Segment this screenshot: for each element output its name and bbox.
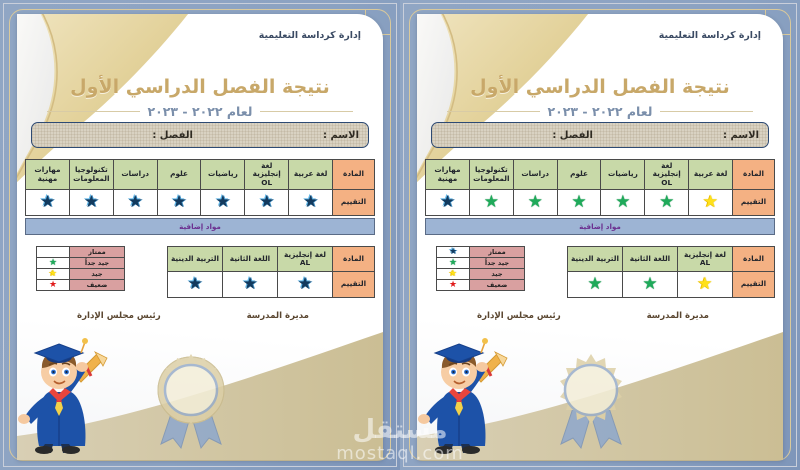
student-identity-box[interactable]: الاسم : الفصل : (31, 122, 369, 148)
rating-legend-table: ممتاز ★ جيد جداً ★ جيد ★ ضعيف ★ (436, 246, 525, 291)
rating-cell[interactable]: ★ (201, 190, 245, 216)
legend-label: ممتاز (470, 247, 525, 258)
rating-cell[interactable]: ★ (278, 272, 333, 298)
legend-star-icon: ★ (449, 259, 457, 268)
row-header-subject: المادة (733, 160, 775, 190)
graduate-boy-illustration (417, 336, 511, 454)
legend-star-cell: ★ (37, 258, 70, 269)
legend-label: جيد جداً (470, 258, 525, 269)
table-row-subjects: المادة لغة إنجليزية AL اللغة الثانية الت… (168, 247, 375, 272)
rating-cell[interactable]: ★ (69, 190, 113, 216)
certificate-paper: إدارة كرداسة التعليمية نتيجة الفصل الدرا… (17, 14, 383, 460)
row-header-subject: المادة (333, 160, 375, 190)
rating-star-icon: ★ (40, 194, 55, 211)
rating-star-icon: ★ (615, 194, 630, 211)
rating-cell[interactable]: ★ (223, 272, 278, 298)
table-row-ratings: التقييم ★ ★ ★ (568, 272, 775, 298)
extra-subjects-banner: مواد إضافية (425, 218, 775, 235)
subject-cell: دراسات (513, 160, 557, 190)
subject-cell: لغة عربية (689, 160, 733, 190)
student-class-label: الفصل : (152, 130, 193, 141)
row-header-rating: التقييم (733, 272, 775, 298)
table-row-subjects: المادة لغة إنجليزية AL اللغة الثانية الت… (568, 247, 775, 272)
legend-row: ممتاز ★ (437, 247, 525, 258)
extra-grades-section: المادة لغة إنجليزية AL اللغة الثانية الت… (567, 246, 775, 298)
student-name-label: الاسم : (323, 130, 359, 141)
extra-subjects-banner: مواد إضافية (25, 218, 375, 235)
subject-cell: اللغة الثانية (623, 247, 678, 272)
subject-cell: رياضيات (601, 160, 645, 190)
legend-row: جيد ★ (437, 269, 525, 280)
result-card-right: إدارة كرداسة التعليمية نتيجة الفصل الدرا… (400, 0, 800, 470)
rating-star-icon: ★ (587, 276, 602, 293)
subject-cell: لغة إنجليزية OL (645, 160, 689, 190)
legend-star-icon: ★ (49, 259, 57, 268)
rating-cell[interactable]: ★ (157, 190, 201, 216)
academic-year-row: لعام ٢٠٢٢ - ٢٠٢٣ (47, 104, 353, 119)
result-card-left: إدارة كرداسة التعليمية نتيجة الفصل الدرا… (0, 0, 400, 470)
legend-row: ضعيف ★ (437, 280, 525, 291)
legend-star-cell: ★ (437, 280, 470, 291)
rating-star-icon: ★ (659, 194, 674, 211)
rating-star-icon: ★ (528, 194, 543, 211)
main-grades-section: المادة لغة عربية لغة إنجليزية OL رياضيات… (425, 159, 775, 235)
row-header-rating: التقييم (333, 272, 375, 298)
subject-cell: تكنولوجيا المعلومات (469, 160, 513, 190)
rating-star-icon: ★ (303, 194, 318, 211)
certificate-paper: إدارة كرداسة التعليمية نتيجة الفصل الدرا… (417, 14, 783, 460)
row-header-subject: المادة (333, 247, 375, 272)
main-grades-table: المادة لغة عربية لغة إنجليزية OL رياضيات… (425, 159, 775, 216)
legend-star-icon: ★ (449, 281, 457, 290)
rating-cell[interactable]: ★ (289, 190, 333, 216)
subject-cell: لغة عربية (289, 160, 333, 190)
academic-year-row: لعام ٢٠٢٢ - ٢٠٢٣ (447, 104, 753, 119)
rating-star-icon: ★ (242, 276, 257, 293)
row-header-subject: المادة (733, 247, 775, 272)
rating-cell[interactable]: ★ (557, 190, 601, 216)
rating-cell[interactable]: ★ (426, 190, 470, 216)
rating-cell[interactable]: ★ (689, 190, 733, 216)
legend-star-cell: ★ (37, 269, 70, 280)
rating-legend-table: ممتاز ★ جيد جداً ★ جيد ★ ضعيف ★ (36, 246, 125, 291)
subject-cell: اللغة الثانية (223, 247, 278, 272)
subject-cell: التربية الدينية (568, 247, 623, 272)
subject-cell: مهارات مهنية (26, 160, 70, 190)
table-row-subjects: المادة لغة عربية لغة إنجليزية OL رياضيات… (426, 160, 775, 190)
education-administration-label: إدارة كرداسة التعليمية (259, 30, 361, 41)
main-grades-table: المادة لغة عربية لغة إنجليزية OL رياضيات… (25, 159, 375, 216)
rating-cell[interactable]: ★ (469, 190, 513, 216)
legend-star-cell: ★ (437, 247, 470, 258)
row-header-rating: التقييم (733, 190, 775, 216)
rating-cell[interactable]: ★ (645, 190, 689, 216)
year-rule-right (660, 111, 753, 112)
signature-headmistress: مديرة المدرسة (247, 311, 309, 321)
subject-cell: علوم (557, 160, 601, 190)
rating-cell[interactable]: ★ (245, 190, 289, 216)
rating-cell[interactable]: ★ (168, 272, 223, 298)
rating-star-icon: ★ (84, 194, 99, 211)
signature-headmistress: مديرة المدرسة (647, 311, 709, 321)
table-row-subjects: المادة لغة عربية لغة إنجليزية OL رياضيات… (26, 160, 375, 190)
academic-year-label: لعام ٢٠٢٢ - ٢٠٢٣ (148, 104, 253, 119)
education-administration-label: إدارة كرداسة التعليمية (659, 30, 761, 41)
subject-cell: رياضيات (201, 160, 245, 190)
legend-label: جيد جداً (70, 258, 125, 269)
extra-grades-table: المادة لغة إنجليزية AL اللغة الثانية الت… (567, 246, 775, 298)
legend-star-icon: ★ (449, 248, 457, 257)
rosette-award-illustration (147, 352, 235, 452)
rating-star-icon: ★ (215, 194, 230, 211)
subject-cell: لغة إنجليزية OL (245, 160, 289, 190)
legend-label: ضعيف (470, 280, 525, 291)
screenshot-stage: إدارة كرداسة التعليمية نتيجة الفصل الدرا… (0, 0, 800, 470)
subject-cell: علوم (157, 160, 201, 190)
legend-label: ممتاز (70, 247, 125, 258)
legend-row: جيد جداً ★ (37, 258, 125, 269)
legend-star-cell: ★ (437, 269, 470, 280)
rating-star-icon: ★ (642, 276, 657, 293)
student-name-label: الاسم : (723, 130, 759, 141)
year-rule-left (447, 111, 540, 112)
student-identity-box[interactable]: الاسم : الفصل : (431, 122, 769, 148)
legend-star-icon: ★ (49, 281, 57, 290)
legend-row: جيد جداً ★ (437, 258, 525, 269)
legend-row: ضعيف ★ (37, 280, 125, 291)
rating-star-icon: ★ (259, 194, 274, 211)
subject-cell: مهارات مهنية (426, 160, 470, 190)
extra-grades-table: المادة لغة إنجليزية AL اللغة الثانية الت… (167, 246, 375, 298)
legend-label: جيد (70, 269, 125, 280)
rating-cell[interactable]: ★ (568, 272, 623, 298)
rating-star-icon: ★ (697, 276, 712, 293)
legend-row: جيد ★ (37, 269, 125, 280)
rating-cell[interactable]: ★ (623, 272, 678, 298)
page-title: نتيجة الفصل الدراسي الأول (417, 76, 783, 98)
signature-board-chairman: رئيس مجلس الإدارة (477, 311, 561, 321)
main-grades-section: المادة لغة عربية لغة إنجليزية OL رياضيات… (25, 159, 375, 235)
legend-star-icon: ★ (49, 270, 57, 279)
rating-star-icon: ★ (571, 194, 586, 211)
table-row-ratings: التقييم ★ ★ ★ ★ ★ ★ ★ (426, 190, 775, 216)
legend-label: جيد (470, 269, 525, 280)
rating-star-icon: ★ (187, 276, 202, 293)
subject-cell: لغة إنجليزية AL (678, 247, 733, 272)
rating-cell[interactable]: ★ (513, 190, 557, 216)
rosette-award-illustration (547, 352, 635, 452)
table-row-ratings: التقييم ★ ★ ★ (168, 272, 375, 298)
subject-cell: تكنولوجيا المعلومات (69, 160, 113, 190)
subject-cell: دراسات (113, 160, 157, 190)
rating-star-icon: ★ (484, 194, 499, 211)
rating-star-icon: ★ (128, 194, 143, 211)
rating-star-icon: ★ (440, 194, 455, 211)
legend-star-icon: ★ (449, 270, 457, 279)
extra-grades-section: المادة لغة إنجليزية AL اللغة الثانية الت… (167, 246, 375, 298)
legend-star-cell: ★ (437, 258, 470, 269)
table-row-ratings: التقييم ★ ★ ★ ★ ★ ★ ★ (26, 190, 375, 216)
rating-cell[interactable]: ★ (113, 190, 157, 216)
rating-cell[interactable]: ★ (601, 190, 645, 216)
legend-row: ممتاز ★ (37, 247, 125, 258)
year-rule-right (260, 111, 353, 112)
subject-cell: لغة إنجليزية AL (278, 247, 333, 272)
signature-board-chairman: رئيس مجلس الإدارة (77, 311, 161, 321)
graduate-boy-illustration (17, 336, 111, 454)
rating-star-icon: ★ (297, 276, 312, 293)
academic-year-label: لعام ٢٠٢٢ - ٢٠٢٣ (548, 104, 653, 119)
rating-cell[interactable]: ★ (26, 190, 70, 216)
year-rule-left (47, 111, 140, 112)
student-class-label: الفصل : (552, 130, 593, 141)
subject-cell: التربية الدينية (168, 247, 223, 272)
row-header-rating: التقييم (333, 190, 375, 216)
rating-star-icon: ★ (703, 194, 718, 211)
legend-star-cell: ★ (37, 280, 70, 291)
rating-star-icon: ★ (171, 194, 186, 211)
legend-label: ضعيف (70, 280, 125, 291)
page-title: نتيجة الفصل الدراسي الأول (17, 76, 383, 98)
legend-star-cell: ★ (37, 247, 70, 258)
rating-cell[interactable]: ★ (678, 272, 733, 298)
